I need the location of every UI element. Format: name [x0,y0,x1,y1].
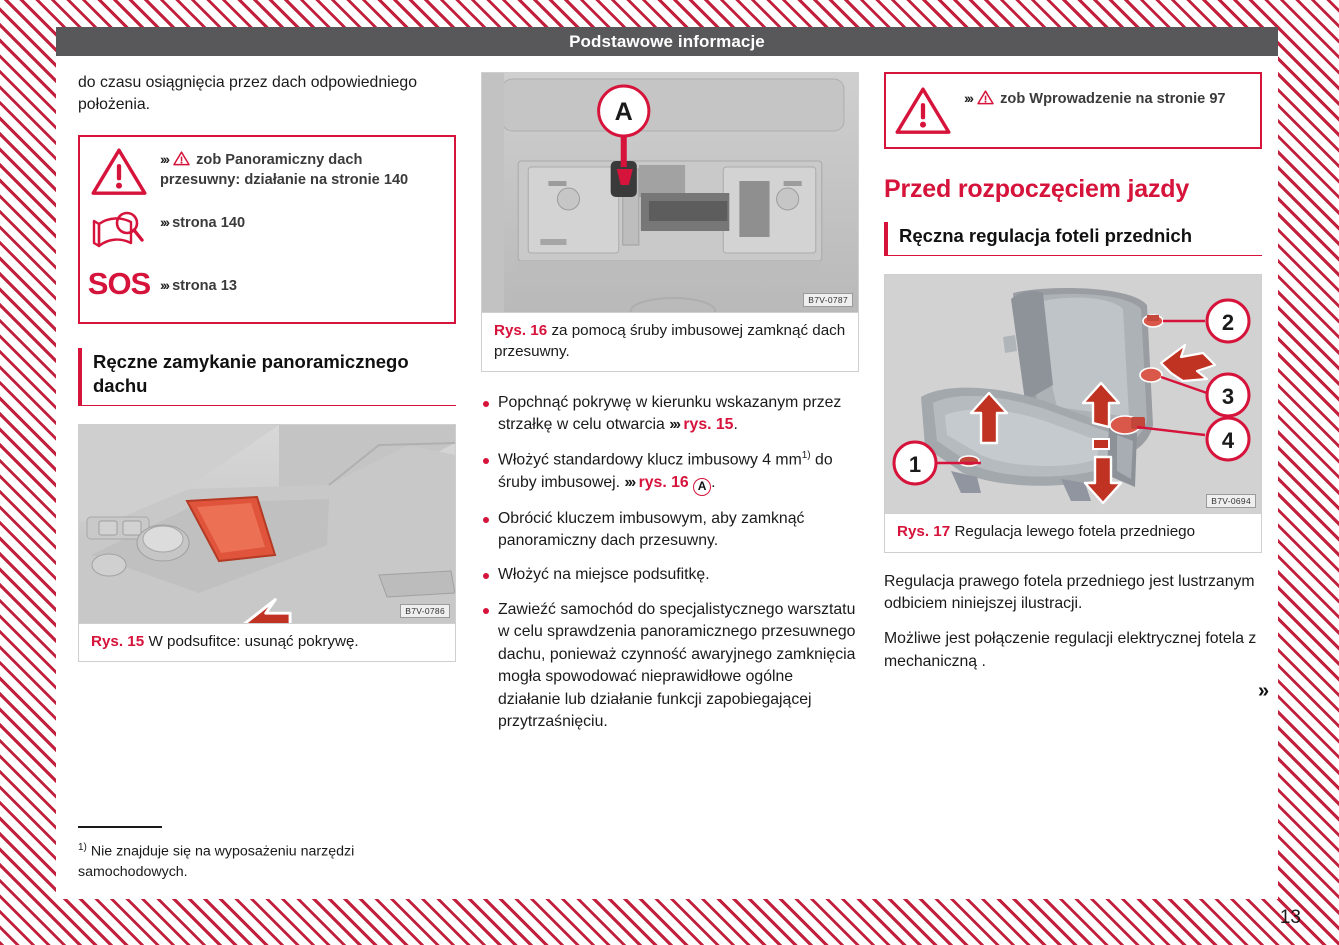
chevron-icon: ››› [160,277,168,293]
list-item: Włożyć na miejsce podsufitkę. [481,564,859,586]
alert-warning-text: ››› zob Panoramiczny dach przesuwny: dzi… [160,147,442,190]
list-item: Zawieźć samochód do specjalistycznego wa… [481,599,859,734]
bullet-2-footnote-marker: 1) [802,450,811,461]
figure-16-caption-text: za pomocą śruby imbusowej zamknąć dach p… [494,322,845,360]
page-header-title: Podstawowe informacje [569,32,765,52]
alert-warning-label: zob Wprowadzenie na stronie 97 [1000,91,1225,107]
figure-17-caption: Rys. 17 Regulacja lewego fotela przednie… [885,513,1261,552]
right-paragraph-1: Regulacja prawego fotela przedniego jest… [884,571,1262,616]
warning-triangle-small-icon [173,151,190,166]
footnote-block: 1) Nie znajduje się na wyposażeniu narzę… [78,826,456,882]
page-section-title: Przed rozpoczęciem jazdy [884,175,1262,204]
footnote-text: 1) Nie znajduje się na wyposażeniu narzę… [78,841,456,882]
alert-row-warning: ››› zob Wprowadzenie na stronie 97 [894,86,1248,135]
figure-15-image-code: B7V-0786 [400,604,450,618]
figure-15-caption-label: Rys. 15 [91,633,144,650]
intro-paragraph: do czasu osiągnięcia przez dach odpowied… [78,72,456,117]
figure-17-caption-label: Rys. 17 [897,523,950,540]
figure-15-caption: Rys. 15 W podsufitce: usunąć pokrywę. [79,623,455,662]
chevron-icon: ››› [160,214,168,230]
alert-sos-text: ››› strona 13 [160,268,237,296]
list-item: Obrócić kluczem imbusowym, aby zamknąć p… [481,508,859,553]
alert-reference-label: strona 140 [172,215,245,231]
footnote-marker: 1) [78,842,87,853]
figure-17-image: 1 2 3 4 B7V-0694 [885,275,1261,513]
right-paragraph-2: Możliwe jest połączenie regulacji elektr… [884,628,1262,673]
warning-triangle-icon [894,86,952,135]
left-column: do czasu osiągnięcia przez dach odpowied… [78,72,456,745]
left-section-heading: Ręczne zamykanie panoramicznego dachu [78,348,456,405]
list-item: Włożyć standardowy klucz imbusowy 4 mm1)… [481,449,859,496]
list-item: Popchnąć pokrywę w kierunku wskazanym pr… [481,392,859,437]
sos-icon: SOS [90,268,148,299]
figure-16-caption-label: Rys. 16 [494,322,547,339]
svg-text:1: 1 [909,452,921,477]
chevron-icon: ››› [160,151,168,167]
procedure-bullet-list: Popchnąć pokrywę w kierunku wskazanym pr… [481,392,859,733]
footnote-divider [78,826,162,828]
figure-rys-17: 1 2 3 4 B7V-0694 Rys. 17 Regulacja leweg… [884,274,1262,553]
bullet-2-text: Włożyć standardowy klucz imbusowy 4 mm [498,451,802,468]
continuation-marker: » [1258,680,1266,703]
alert-row-warning: ››› zob Panoramiczny dach przesuwny: dzi… [90,147,442,196]
sos-label: SOS [88,268,150,299]
svg-text:2: 2 [1222,310,1234,335]
figure-17-image-code: B7V-0694 [1206,494,1256,508]
figure-16-image-code: B7V-0787 [803,293,853,307]
figure-rys-15: B7V-0786 Rys. 15 W podsufitce: usunąć po… [78,424,456,663]
bullet-1-ref[interactable]: rys. 15 [683,416,733,433]
alert-reference-text: ››› strona 140 [160,210,245,233]
page-header-bar: Podstawowe informacje [56,27,1278,56]
chevron-icon: ››› [669,416,679,433]
alert-warning-label: zob Panoramiczny dach przesuwny: działan… [160,152,408,188]
figure-rys-16: A B7V-0787 Rys. 16 za pomocą śruby imbus… [481,72,859,372]
three-column-layout: do czasu osiągnięcia przez dach odpowied… [78,72,1264,745]
manual-page: Podstawowe informacje do czasu osiągnięc… [0,0,1339,945]
alert-sos-label: strona 13 [172,278,237,294]
figure-15-image: B7V-0786 [79,425,455,623]
figure-16-image: A B7V-0787 [482,73,858,312]
alert-row-reference: ››› strona 140 [90,210,442,254]
book-magnifier-icon [90,210,148,252]
warning-triangle-small-icon [977,90,994,105]
figure-15-caption-text: W podsufitce: usunąć pokrywę. [148,633,358,650]
chevron-icon: ››› [964,90,972,106]
figure-16-caption: Rys. 16 za pomocą śruby imbusowej zamkną… [482,312,858,371]
svg-text:A: A [615,98,633,126]
callout-a-badge: A [693,478,711,496]
right-alert-box: ››› zob Wprowadzenie na stronie 97 [884,72,1262,149]
chevron-icon: ››› [624,474,634,491]
alert-warning-text: ››› zob Wprowadzenie na stronie 97 [964,86,1226,109]
right-sub-heading: Ręczna regulacja foteli przednich [884,222,1262,256]
footnote-body: Nie znajduje się na wyposażeniu narzędzi… [78,844,354,880]
bullet-2-ref[interactable]: rys. 16 [639,474,689,491]
middle-column: A B7V-0787 Rys. 16 za pomocą śruby imbus… [481,72,859,745]
left-alert-box: ››› zob Panoramiczny dach przesuwny: dzi… [78,135,456,324]
bullet-2-text-end: . [711,474,715,491]
alert-row-sos: SOS ››› strona 13 [90,268,442,312]
page-number: 13 [1280,907,1301,929]
warning-triangle-icon [90,147,148,196]
svg-text:4: 4 [1222,428,1235,453]
svg-text:3: 3 [1222,384,1234,409]
figure-17-caption-text: Regulacja lewego fotela przedniego [954,523,1195,540]
right-column: ››› zob Wprowadzenie na stronie 97 Przed… [884,72,1262,745]
bullet-1-text-end: . [733,416,737,433]
